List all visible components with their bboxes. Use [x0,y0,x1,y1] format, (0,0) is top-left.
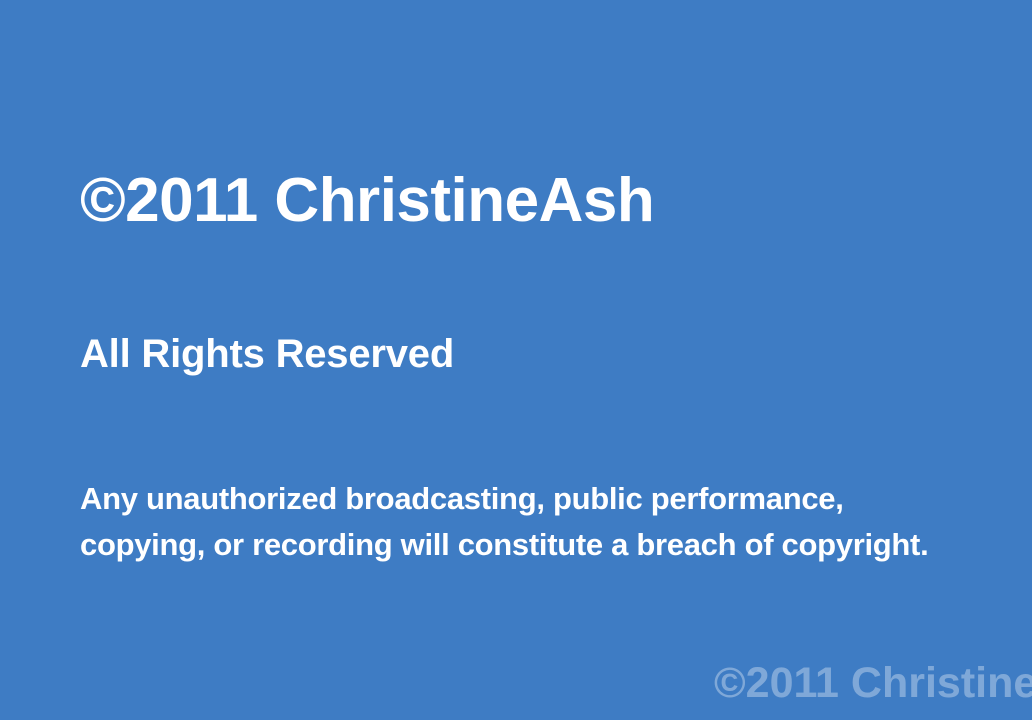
rights-reserved-text: All Rights Reserved [80,332,454,376]
copyright-notice: Any unauthorized broadcasting, public pe… [80,476,1032,568]
watermark: ©2011 ChristineAsh [714,660,1032,707]
copyright-slide: ©2011 ChristineAsh All Rights Reserved A… [0,0,1032,720]
copyright-notice-line-1: Any unauthorized broadcasting, public pe… [80,476,1032,522]
page-title: ©2011 ChristineAsh [80,168,654,233]
copyright-notice-line-2: copying, or recording will constitute a … [80,522,1032,568]
